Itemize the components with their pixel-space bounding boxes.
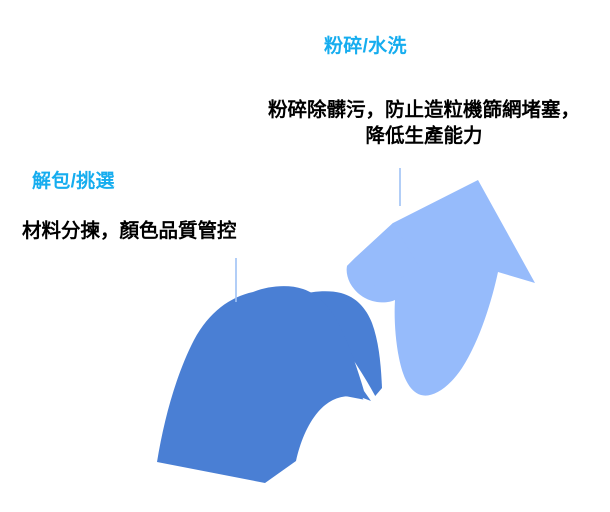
- stage-body-crush-wash: 粉碎除髒污，防止造粒機篩網堵塞，降低生產能力: [268, 98, 580, 149]
- stage-body-unpack-sort: 材料分揀，顏色品質管控: [22, 219, 322, 245]
- stage-heading-unpack-sort: 解包/挑選: [32, 171, 115, 193]
- stage-heading-crush-wash: 粉碎/水洗: [324, 36, 407, 58]
- slide-canvas: 粉碎/水洗 粉碎除髒污，防止造粒機篩網堵塞，降低生產能力 解包/挑選 材料分揀，…: [0, 0, 610, 512]
- process-arrow-graphic: [0, 0, 610, 512]
